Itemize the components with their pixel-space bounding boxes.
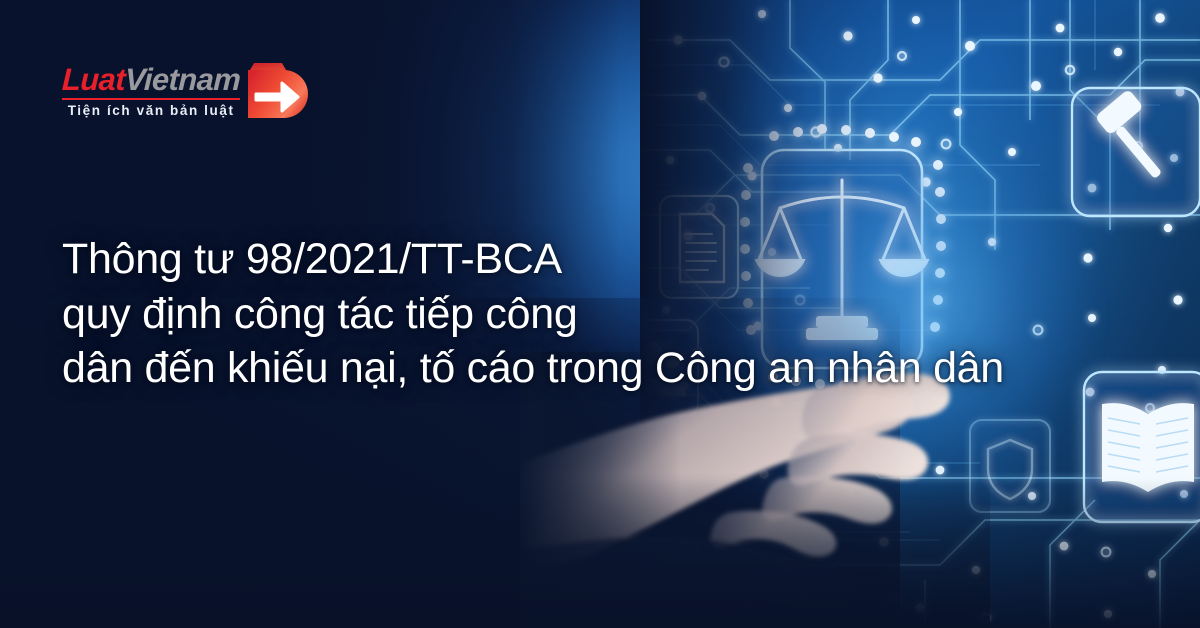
logo-divider-rule <box>62 98 240 100</box>
logo-tagline: Tiện ích văn bản luật <box>62 103 240 118</box>
open-book-icon <box>1084 372 1200 522</box>
logo-text-block: LuatVietnam Tiện ích văn bản luật <box>62 64 240 118</box>
logo-wordmark: LuatVietnam <box>61 64 240 95</box>
luatvietnam-logo[interactable]: LuatVietnam Tiện ích văn bản luật <box>62 60 312 122</box>
headline-line-2: quy định công tác tiếp công <box>62 287 1004 342</box>
red-folder-arrow-icon <box>246 60 312 122</box>
logo-word-vietnam: Vietnam <box>124 62 240 97</box>
headline-line-1: Thông tư 98/2021/TT-BCA <box>62 232 1004 287</box>
banner-image: LuatVietnam Tiện ích văn bản luật <box>0 0 1200 628</box>
gavel-icon <box>1072 88 1200 216</box>
logo-word-luat: Luat <box>61 62 125 97</box>
page-title: Thông tư 98/2021/TT-BCA quy định công tá… <box>62 232 1004 396</box>
headline-line-3: dân đến khiếu nại, tố cáo trong Công an … <box>62 341 1004 396</box>
